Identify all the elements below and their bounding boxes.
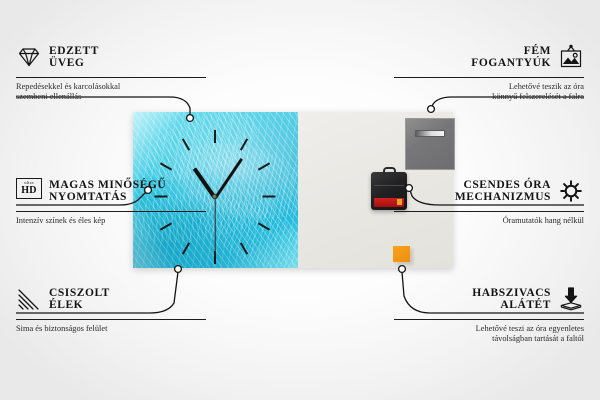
feature-title: CSISZOLT ÉLEK (49, 287, 110, 312)
diamond-icon (16, 44, 42, 70)
feature-metal-handles[interactable]: FÉM FOGANTYÚK Lehetővé teszik az óra kö (394, 40, 584, 103)
connector-dot-edges (175, 266, 182, 273)
feature-rule (16, 319, 206, 320)
feature-rule (394, 319, 584, 320)
feature-description: Sima és biztonságos felület (16, 324, 206, 334)
feature-silent-mechanism[interactable]: CSENDES ÓRA MECHANIZMUS Óramutatók hang … (394, 174, 584, 226)
infographic-canvas: EDZETT ÜVEG Repedésekkel és karcolásokka… (0, 0, 600, 400)
feature-tempered-glass[interactable]: EDZETT ÜVEG Repedésekkel és karcolásokka… (16, 40, 206, 103)
feature-description: Óramutatók hang nélkül (394, 216, 584, 226)
feature-title: CSENDES ÓRA MECHANIZMUS (455, 179, 551, 204)
beveled-edge-icon (16, 286, 42, 312)
feature-description: Lehetővé teszi az óra egyenletes távolsá… (394, 324, 584, 345)
feature-polished-edges[interactable]: CSISZOLT ÉLEK Sima és biztonságos felüle… (16, 282, 206, 334)
feature-description: Intenzív színek és éles kép (16, 216, 206, 226)
feature-title: HABSZIVACS ALÁTÉT (472, 287, 551, 312)
connector-dot-handles (428, 106, 435, 113)
feature-description: Lehetővé teszik az óra könnyű felszerelé… (394, 82, 584, 103)
connector-dot-tempered-glass (187, 115, 194, 122)
feature-title: FÉM FOGANTYÚK (471, 45, 551, 70)
feature-title: MAGAS MINŐSÉGŰ NYOMTATÁS (49, 179, 166, 204)
feature-foam-backing[interactable]: HABSZIVACS ALÁTÉT Lehetővé teszi az óra … (394, 282, 584, 345)
feature-rule (394, 77, 584, 78)
ultra-hd-main-label: HD (21, 186, 36, 196)
feature-description: Repedésekkel és karcolásokkal szembeni e… (16, 82, 206, 103)
gear-icon (558, 178, 584, 204)
hanging-picture-icon (558, 44, 584, 70)
connector-dot-foam (399, 266, 406, 273)
feature-rule (16, 77, 206, 78)
press-down-pad-icon (558, 286, 584, 312)
feature-rule (16, 211, 206, 212)
feature-title: EDZETT ÜVEG (49, 45, 99, 70)
feature-rule (394, 211, 584, 212)
ultra-hd-icon: ultra HD (16, 178, 42, 204)
feature-high-quality-print[interactable]: ultra HD MAGAS MINŐSÉGŰ NYOMTATÁS Intenz… (16, 174, 206, 226)
